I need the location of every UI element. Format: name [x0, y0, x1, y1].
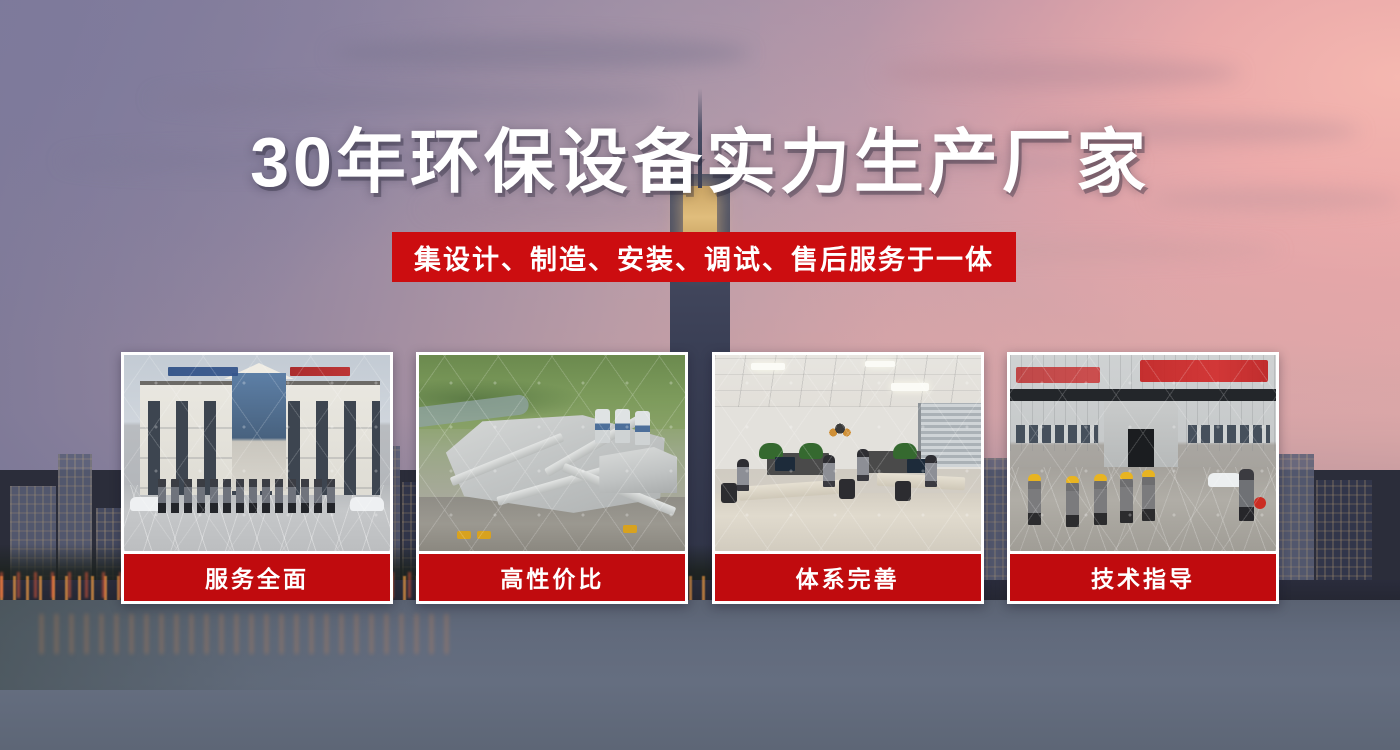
office-worker: [737, 459, 749, 491]
worker: [1066, 481, 1079, 527]
promo-banner: 30年环保设备实力生产厂家 集设计、制造、安装、调试、售后服务于一体: [0, 0, 1400, 750]
worker: [1094, 479, 1107, 525]
office-worker: [823, 455, 835, 487]
office-chair: [839, 479, 855, 499]
office-desk: [876, 473, 965, 491]
potted-plant: [893, 443, 917, 459]
ceiling-light: [751, 363, 785, 370]
factory-slogan-large: [1140, 360, 1268, 382]
wall-decal: [823, 413, 857, 439]
cloud: [880, 58, 1240, 88]
office-chair: [895, 481, 911, 501]
company-sign: [168, 367, 238, 376]
storage-silo: [615, 409, 630, 443]
company-headquarters-building-photo: [124, 355, 390, 551]
facade-dark-band: [1010, 389, 1276, 401]
hard-hat: [1094, 474, 1107, 481]
computer-monitor: [775, 457, 795, 471]
office-chair: [721, 483, 737, 503]
worker: [1028, 479, 1041, 525]
hard-hat: [1120, 472, 1133, 479]
river-light-reflection: [40, 614, 460, 654]
feature-card[interactable]: 技术指导: [1007, 352, 1279, 604]
parked-car: [1208, 473, 1242, 487]
feature-card[interactable]: 服务全面: [121, 352, 393, 604]
ceiling-light: [865, 361, 895, 367]
facade-windows: [1188, 425, 1270, 443]
storage-silo: [595, 409, 610, 443]
potted-plant: [799, 443, 823, 459]
cloud: [330, 36, 750, 70]
card-caption-bar: 技术指导: [1010, 554, 1276, 601]
hard-hat: [1142, 470, 1155, 477]
subtitle-text: 集设计、制造、安装、调试、售后服务于一体: [414, 238, 994, 277]
aerial-industrial-plant-photo: [419, 355, 685, 551]
red-helmet: [1254, 497, 1266, 509]
factory-yard-workers-photo: [1010, 355, 1276, 551]
card-caption-bar: 服务全面: [124, 554, 390, 601]
subtitle-banner: 集设计、制造、安装、调试、售后服务于一体: [392, 232, 1016, 282]
card-caption-bar: 高性价比: [419, 554, 685, 601]
ceiling-light: [891, 383, 929, 391]
card-caption-text: 高性价比: [500, 560, 604, 594]
building-entrance: [232, 373, 286, 491]
page-title: 30年环保设备实力生产厂家: [0, 126, 1400, 199]
card-caption-text: 技术指导: [1091, 560, 1195, 594]
feature-card[interactable]: 高性价比: [416, 352, 688, 604]
excavator: [477, 531, 491, 539]
storage-silo: [635, 411, 650, 445]
worker: [1142, 475, 1155, 521]
card-caption-text: 服务全面: [205, 560, 309, 594]
office-worker: [925, 455, 937, 487]
staff-lineup: [158, 479, 358, 513]
supervisor: [1239, 469, 1254, 521]
excavator: [623, 525, 637, 533]
facade-windows: [1016, 425, 1098, 443]
hard-hat: [1028, 474, 1041, 481]
factory-slogan-small: [1016, 367, 1100, 383]
worker: [1120, 477, 1133, 523]
office-interior-staff-photo: [715, 355, 981, 551]
office-worker: [857, 449, 869, 481]
cloud: [150, 86, 670, 112]
phone-number-sign: [290, 367, 350, 376]
factory-door: [1128, 429, 1154, 469]
card-caption-bar: 体系完善: [715, 554, 981, 601]
excavator: [457, 531, 471, 539]
office-floor: [715, 493, 981, 551]
feature-card-list: 服务全面: [121, 352, 1279, 604]
computer-monitor: [907, 459, 927, 473]
feature-card[interactable]: 体系完善: [712, 352, 984, 604]
hard-hat: [1066, 476, 1079, 483]
card-caption-text: 体系完善: [796, 560, 900, 594]
